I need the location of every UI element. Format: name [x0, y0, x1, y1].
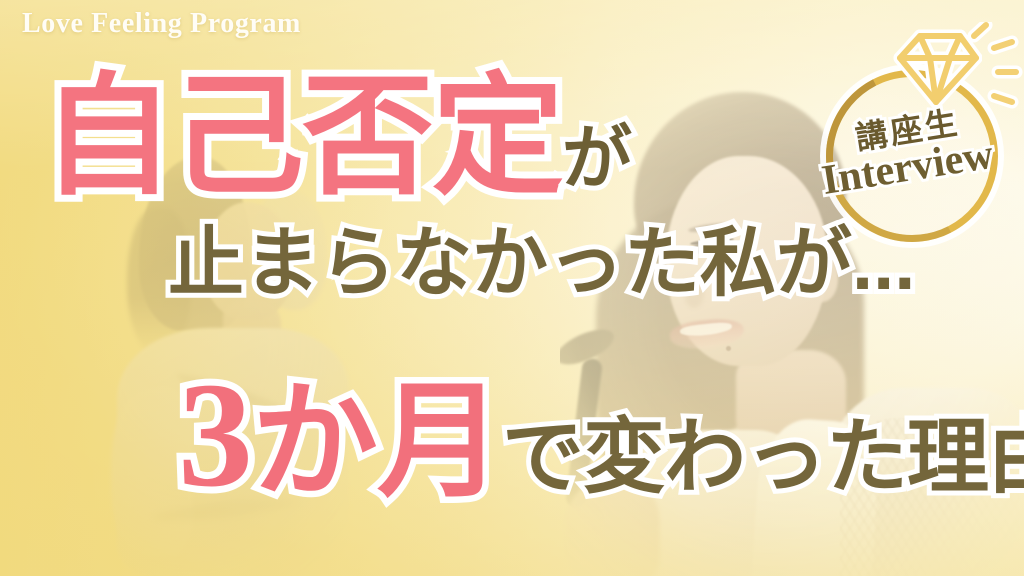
thumbnail-canvas: Love Feeling Program 自己否定が 止まらなかった私が... … — [0, 0, 1024, 576]
interview-badge: 講座生 Interview — [808, 18, 1020, 240]
brand-title: Love Feeling Program — [22, 8, 301, 40]
